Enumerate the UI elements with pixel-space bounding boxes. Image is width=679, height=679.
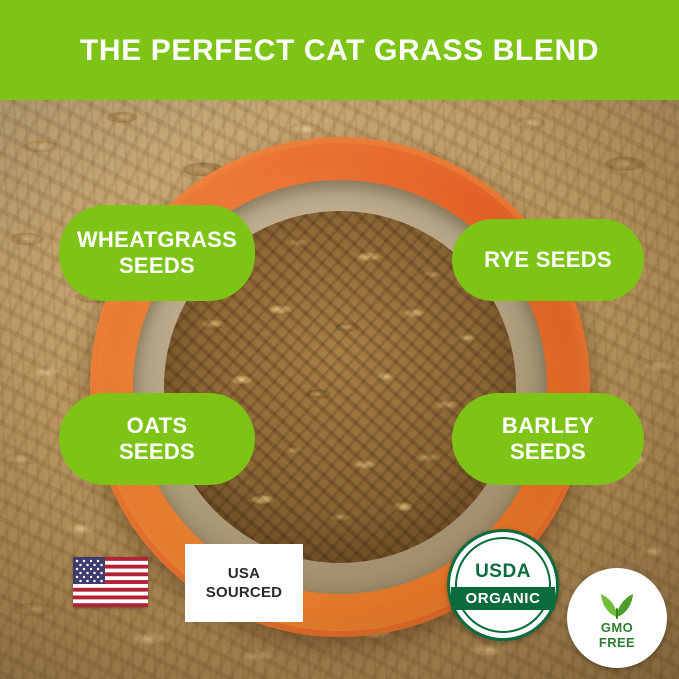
header-banner: THE PERFECT CAT GRASS BLEND [0, 0, 679, 100]
label-oats-line2: SEEDS [119, 439, 195, 464]
gmo-free-text: GMO FREE [599, 621, 635, 651]
label-oats-line1: OATS [127, 413, 188, 438]
label-barley-text: BARLEYSEEDS [502, 413, 594, 464]
label-wheatgrass-line1: WHEATGRASS [77, 227, 237, 252]
label-barley-line2: SEEDS [510, 439, 586, 464]
label-wheatgrass-seeds: WHEATGRASSSEEDS [59, 205, 255, 301]
usa-flag-icon [73, 557, 148, 607]
page-title: THE PERFECT CAT GRASS BLEND [80, 34, 599, 67]
gmo-free-line1: GMO [601, 620, 633, 635]
label-barley-line1: BARLEY [502, 413, 594, 438]
label-barley-seeds: BARLEYSEEDS [452, 393, 644, 485]
label-rye-seeds: RYE SEEDS [452, 219, 644, 301]
product-photo: WHEATGRASSSEEDS RYE SEEDS OATSSEEDS BARL… [0, 100, 679, 679]
label-oats-seeds: OATSSEEDS [59, 393, 255, 485]
gmo-free-badge: GMO FREE [567, 568, 667, 668]
label-rye-text: RYE SEEDS [484, 247, 612, 273]
label-oats-text: OATSSEEDS [119, 413, 195, 464]
label-wheatgrass-line2: SEEDS [119, 253, 195, 278]
usda-inner-ring [455, 537, 551, 633]
usda-label-top: USDA [475, 561, 531, 583]
usa-sourced-text: USA SOURCED [206, 564, 282, 603]
leaf-icon [596, 585, 638, 619]
usda-organic-badge: USDA ORGANIC [447, 529, 559, 641]
gmo-free-line2: FREE [599, 635, 635, 650]
label-wheatgrass-text: WHEATGRASSSEEDS [77, 227, 237, 278]
usda-label-bottom: ORGANIC [451, 587, 555, 610]
usa-sourced-line1: USA [228, 565, 260, 582]
usa-sourced-line2: SOURCED [206, 584, 282, 601]
product-infographic: THE PERFECT CAT GRASS BLEND WHEATGRASSSE… [0, 0, 679, 679]
usa-sourced-badge: USA SOURCED [185, 544, 303, 622]
